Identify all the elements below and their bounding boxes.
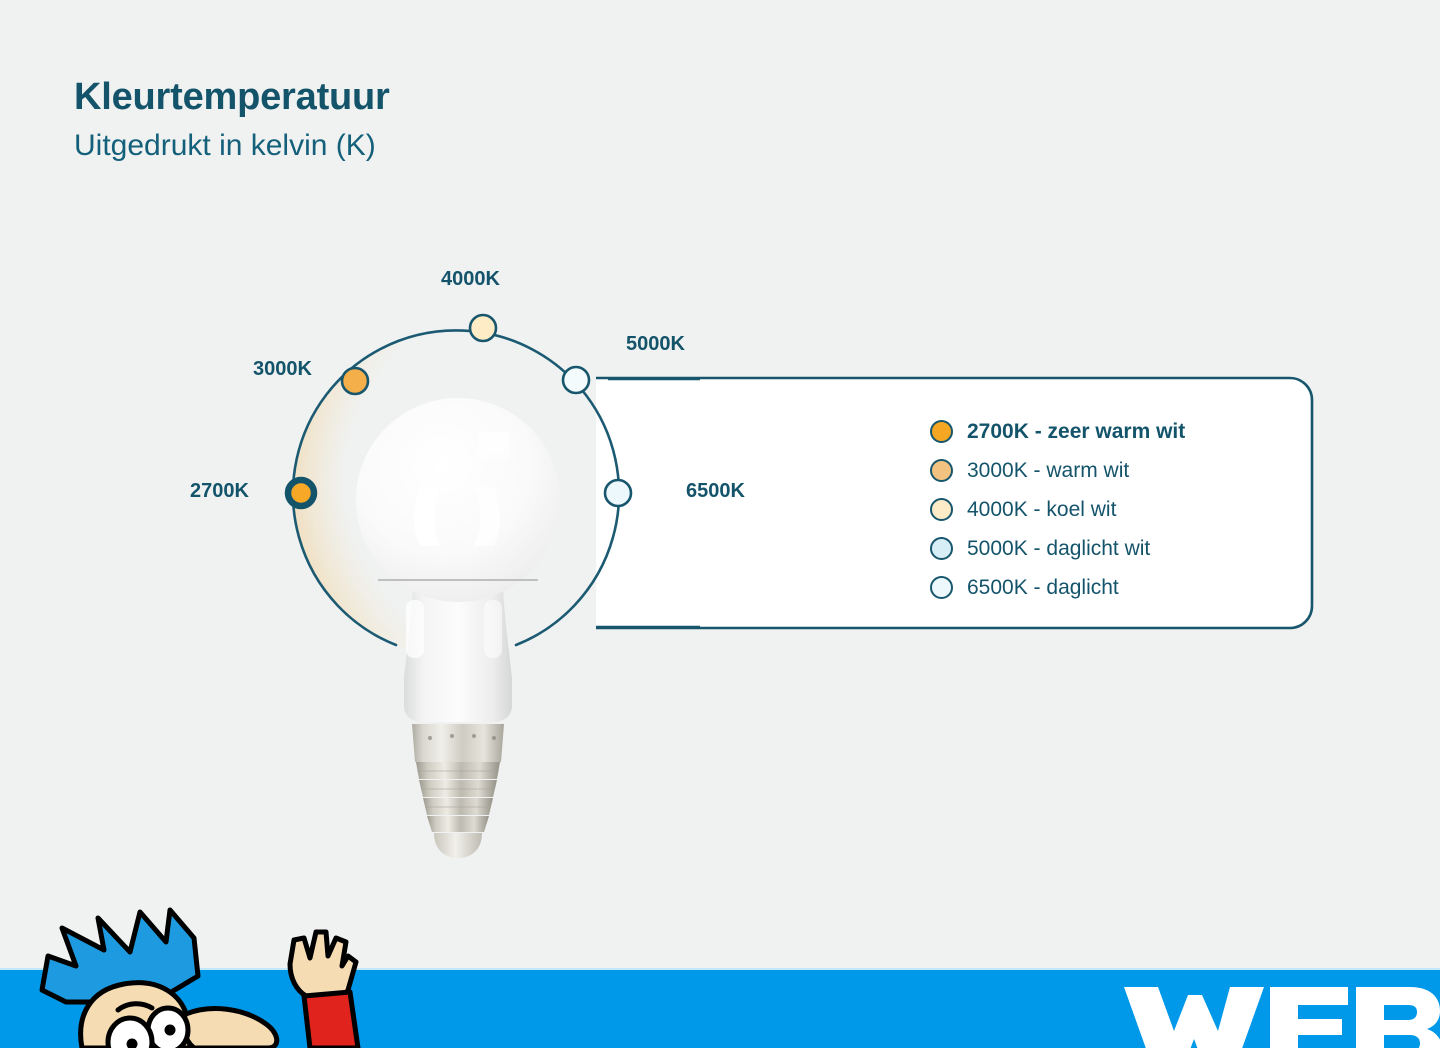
dial-node-5000k[interactable] — [563, 367, 589, 393]
legend-item-label: 4000K - koel wit — [967, 499, 1116, 520]
legend-dot-icon — [930, 498, 953, 521]
dial-label-4000k: 4000K — [441, 269, 500, 289]
legend-item-3000k[interactable]: 3000K - warm wit — [930, 451, 1310, 490]
dial-label-5000k: 5000K — [626, 334, 685, 354]
legend-item-label: 6500K - daglicht — [967, 577, 1119, 598]
legend-item-label: 5000K - daglicht wit — [967, 538, 1150, 559]
dial-node-4000k[interactable] — [470, 315, 496, 341]
legend-item-label: 3000K - warm wit — [967, 460, 1129, 481]
dial-label-6500k: 6500K — [686, 481, 745, 501]
infographic-canvas: Kleurtemperatuur Uitgedrukt in kelvin (K… — [0, 0, 1440, 1048]
dial-node-2700k[interactable] — [288, 480, 314, 506]
legend-item-5000k[interactable]: 5000K - daglicht wit — [930, 529, 1310, 568]
dial-node-3000k[interactable] — [342, 368, 368, 394]
dial-label-3000k: 3000K — [253, 359, 312, 379]
legend-dot-icon — [930, 537, 953, 560]
dial-label-2700k: 2700K — [190, 481, 249, 501]
legend-dot-icon — [930, 576, 953, 599]
e27-screw-threads — [416, 762, 500, 832]
dial-node-6500k[interactable] — [605, 480, 631, 506]
legend-item-6500k[interactable]: 6500K - daglicht — [930, 568, 1310, 607]
legend-item-2700k[interactable]: 2700K - zeer warm wit — [930, 412, 1310, 451]
legend-dot-icon — [930, 420, 953, 443]
legend-item-4000k[interactable]: 4000K - koel wit — [930, 490, 1310, 529]
legend-item-label: 2700K - zeer warm wit — [967, 421, 1185, 442]
legend-dot-icon — [930, 459, 953, 482]
weba-mascot — [18, 898, 378, 1048]
weba-logo — [1118, 975, 1440, 1048]
legend-list: 2700K - zeer warm wit 3000K - warm wit 4… — [930, 412, 1310, 607]
